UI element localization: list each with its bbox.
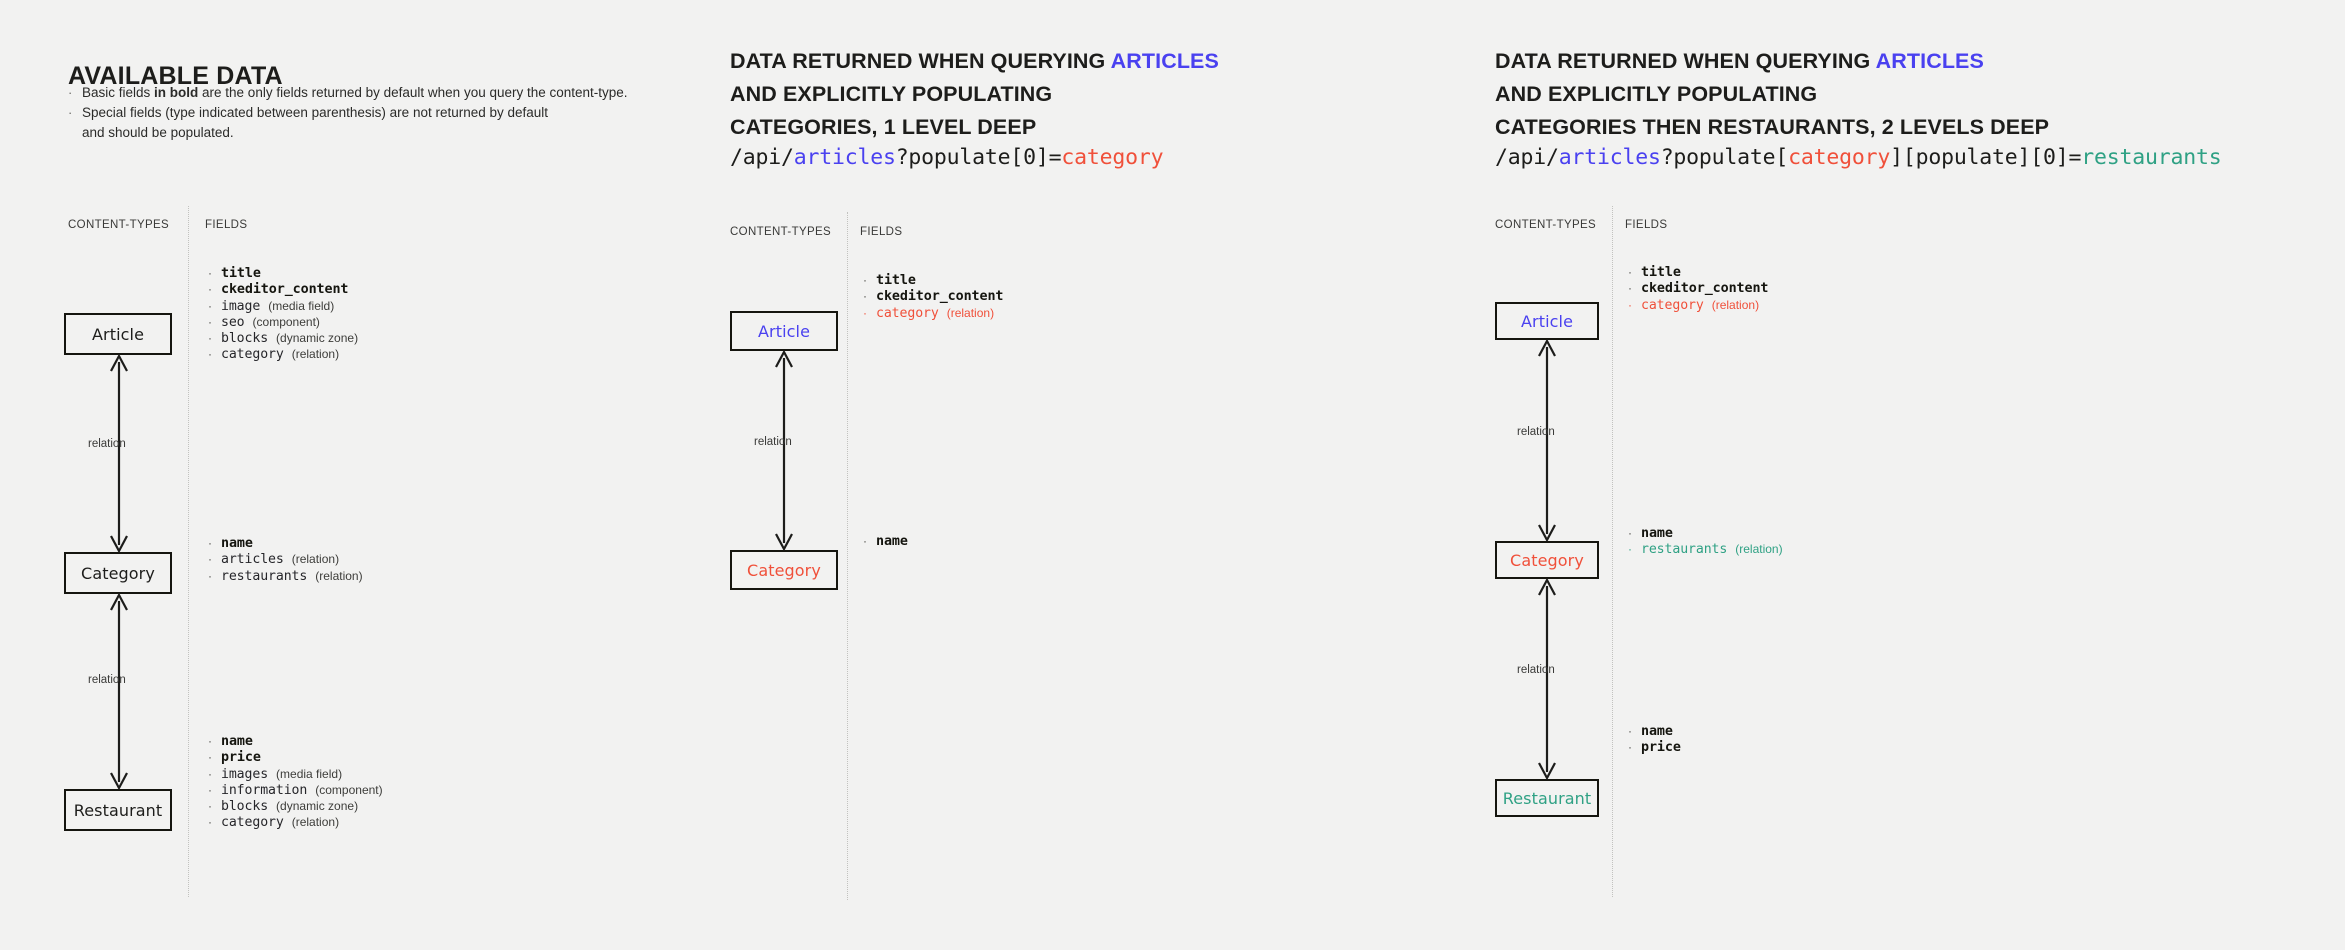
- field-name: name: [1641, 526, 1673, 541]
- column-divider: [188, 206, 189, 897]
- field-type: (relation): [292, 347, 339, 361]
- node-label: Restaurant: [1503, 789, 1592, 808]
- field-row: · name: [1628, 525, 1783, 541]
- field-name: restaurants: [221, 569, 307, 584]
- bullet-icon: ·: [208, 346, 221, 362]
- bullet-icon: ·: [208, 535, 221, 551]
- intro-post: are the only fields returned by default …: [198, 85, 627, 100]
- node-label: Article: [92, 325, 144, 344]
- field-name: title: [221, 266, 261, 281]
- fields-article: · title · ckeditor_content · category (r…: [863, 272, 1003, 321]
- field-row: · category (relation): [208, 814, 383, 830]
- node-article[interactable]: Article: [730, 311, 838, 351]
- intro-pre: Special fields (type indicated between p…: [82, 103, 548, 143]
- bullet-icon: ·: [208, 298, 221, 314]
- arrow-article-category: [108, 354, 130, 553]
- fields-restaurant: · name · price · images (media field) · …: [208, 733, 383, 831]
- field-name: ckeditor_content: [1641, 281, 1768, 296]
- field-type: (relation): [315, 569, 362, 583]
- heading-line3: CATEGORIES THEN RESTAURANTS, 2 LEVELS DE…: [1495, 111, 2049, 144]
- field-type: (dynamic zone): [276, 331, 358, 345]
- node-category[interactable]: Category: [1495, 541, 1599, 579]
- bullet-icon: ·: [208, 749, 221, 765]
- bullet-icon: ·: [208, 782, 221, 798]
- field-name: name: [1641, 724, 1673, 739]
- node-label: Restaurant: [74, 801, 163, 820]
- arrow-category-restaurant: [1536, 578, 1558, 780]
- api-url: /api/articles?populate[category][populat…: [1495, 145, 2221, 170]
- intro-pre: Basic fields: [82, 85, 154, 100]
- bullet-icon: ·: [208, 814, 221, 830]
- column-populate-one-level: DATA RETURNED WHEN QUERYING ARTICLES AND…: [730, 0, 1500, 950]
- field-name: name: [221, 536, 253, 551]
- fields-category: · name · restaurants (relation): [1628, 525, 1783, 558]
- bullet-icon: ·: [863, 272, 876, 288]
- label-fields: FIELDS: [1625, 219, 1667, 231]
- field-row: · ckeditor_content: [1628, 280, 1768, 296]
- field-row: · ckeditor_content: [208, 281, 358, 297]
- label-content-types: CONTENT-TYPES: [68, 219, 169, 231]
- heading-line3: CATEGORIES, 1 LEVEL DEEP: [730, 111, 1219, 144]
- heading-line2: AND EXPLICITLY POPULATING: [1495, 78, 2049, 111]
- field-row: · seo (component): [208, 314, 358, 330]
- field-row: · image (media field): [208, 298, 358, 314]
- field-name: ckeditor_content: [876, 289, 1003, 304]
- field-row: · restaurants (relation): [1628, 541, 1783, 557]
- bullet-icon: ·: [208, 314, 221, 330]
- section-heading: DATA RETURNED WHEN QUERYING ARTICLES AND…: [730, 45, 1219, 143]
- api-seg: articles: [1559, 145, 1661, 170]
- field-row: · title: [208, 265, 358, 281]
- api-seg: /api/: [730, 145, 794, 170]
- node-category[interactable]: Category: [64, 552, 172, 594]
- node-label: Category: [1510, 551, 1584, 570]
- field-row: · name: [208, 535, 363, 551]
- bullet-icon: ·: [1628, 723, 1641, 739]
- bullet-icon: ·: [208, 281, 221, 297]
- heading-accent: ARTICLES: [1876, 49, 1984, 73]
- field-type: (relation): [292, 552, 339, 566]
- diagram-board: AVAILABLE DATA · Basic fields in bold ar…: [0, 0, 2345, 950]
- api-seg: category: [1061, 145, 1163, 170]
- api-seg: restaurants: [2081, 145, 2221, 170]
- api-url: /api/articles?populate[0]=category: [730, 145, 1163, 170]
- field-name: information: [221, 783, 307, 798]
- field-type: (component): [315, 783, 382, 797]
- field-type: (relation): [1712, 298, 1759, 312]
- field-row: · restaurants (relation): [208, 568, 363, 584]
- field-type: (relation): [292, 815, 339, 829]
- relation-label: relation: [1517, 664, 1555, 676]
- field-name: ckeditor_content: [221, 282, 348, 297]
- label-content-types: CONTENT-TYPES: [730, 226, 831, 238]
- node-label: Category: [81, 564, 155, 583]
- relation-label: relation: [1517, 426, 1555, 438]
- field-name: name: [876, 534, 908, 549]
- fields-restaurant: · name · price: [1628, 723, 1681, 756]
- bullet-icon: ·: [863, 305, 876, 321]
- api-seg: articles: [794, 145, 896, 170]
- field-row: · name: [863, 533, 908, 549]
- node-label: Article: [758, 322, 810, 341]
- node-category[interactable]: Category: [730, 550, 838, 590]
- field-row: · articles (relation): [208, 551, 363, 567]
- label-content-types: CONTENT-TYPES: [1495, 219, 1596, 231]
- field-row: · price: [208, 749, 383, 765]
- bullet-icon: ·: [208, 733, 221, 749]
- node-article[interactable]: Article: [1495, 302, 1599, 340]
- bullet-icon: ·: [1628, 280, 1641, 296]
- bullet-icon: ·: [208, 330, 221, 346]
- field-name: category: [221, 347, 284, 362]
- fields-article: · title · ckeditor_content · category (r…: [1628, 264, 1768, 313]
- field-type: (media field): [276, 767, 342, 781]
- relation-label: relation: [754, 436, 792, 448]
- field-name: category: [876, 306, 939, 321]
- list-item: · Basic fields in bold are the only fiel…: [68, 83, 628, 103]
- api-seg: ?populate[: [1661, 145, 1788, 170]
- field-row: · title: [863, 272, 1003, 288]
- field-type: (dynamic zone): [276, 799, 358, 813]
- field-row: · price: [1628, 739, 1681, 755]
- fields-article: · title · ckeditor_content · image (medi…: [208, 265, 358, 363]
- field-row: · images (media field): [208, 766, 383, 782]
- label-fields: FIELDS: [205, 219, 247, 231]
- section-heading: DATA RETURNED WHEN QUERYING ARTICLES AND…: [1495, 45, 2049, 143]
- field-name: images: [221, 767, 268, 782]
- label-fields: FIELDS: [860, 226, 902, 238]
- field-type: (media field): [268, 299, 334, 313]
- field-name: name: [221, 734, 253, 749]
- field-type: (component): [253, 315, 320, 329]
- field-name: category: [221, 815, 284, 830]
- node-article[interactable]: Article: [64, 313, 172, 355]
- node-label: Article: [1521, 312, 1573, 331]
- bullet-icon: ·: [208, 766, 221, 782]
- field-name: seo: [221, 315, 245, 330]
- bullet-icon: ·: [1628, 525, 1641, 541]
- intro-bold: in bold: [154, 85, 198, 100]
- bullet-icon: ·: [208, 568, 221, 584]
- field-name: price: [221, 750, 261, 765]
- column-divider: [847, 212, 848, 900]
- node-restaurant[interactable]: Restaurant: [1495, 779, 1599, 817]
- field-row: · category (relation): [208, 346, 358, 362]
- fields-category: · name: [863, 533, 908, 549]
- api-seg: /api/: [1495, 145, 1559, 170]
- field-name: title: [1641, 265, 1681, 280]
- bullet-icon: ·: [1628, 541, 1641, 557]
- bullet-icon: ·: [863, 288, 876, 304]
- api-seg: ?populate[0]=: [896, 145, 1062, 170]
- field-name: articles: [221, 552, 284, 567]
- api-seg: ][populate][0]=: [1890, 145, 2081, 170]
- relation-label: relation: [88, 438, 126, 450]
- heading-accent: ARTICLES: [1111, 49, 1219, 73]
- relation-label: relation: [88, 674, 126, 686]
- api-seg: category: [1788, 145, 1890, 170]
- node-label: Category: [747, 561, 821, 580]
- field-type: (relation): [1735, 542, 1782, 556]
- field-row: · category (relation): [1628, 297, 1768, 313]
- bullet-icon: ·: [208, 798, 221, 814]
- arrow-article-category: [773, 350, 795, 551]
- bullet-icon: ·: [863, 533, 876, 549]
- bullet-icon: ·: [68, 103, 82, 123]
- field-row: · name: [1628, 723, 1681, 739]
- bullet-icon: ·: [208, 551, 221, 567]
- arrow-article-category: [1536, 339, 1558, 542]
- arrow-category-restaurant: [108, 593, 130, 790]
- field-row: · name: [208, 733, 383, 749]
- heading-line2: AND EXPLICITLY POPULATING: [730, 78, 1219, 111]
- column-divider: [1612, 206, 1613, 897]
- field-row: · title: [1628, 264, 1768, 280]
- bullet-icon: ·: [1628, 264, 1641, 280]
- list-item: · Special fields (type indicated between…: [68, 103, 628, 143]
- field-name: image: [221, 299, 260, 314]
- field-name: price: [1641, 740, 1681, 755]
- bullet-icon: ·: [68, 83, 82, 103]
- field-name: blocks: [221, 799, 268, 814]
- field-row: · blocks (dynamic zone): [208, 330, 358, 346]
- field-type: (relation): [947, 306, 994, 320]
- field-row: · information (component): [208, 782, 383, 798]
- bullet-icon: ·: [1628, 739, 1641, 755]
- field-name: blocks: [221, 331, 268, 346]
- bullet-icon: ·: [208, 265, 221, 281]
- fields-category: · name · articles (relation) · restauran…: [208, 535, 363, 584]
- heading-pre: DATA RETURNED WHEN QUERYING: [730, 49, 1111, 73]
- field-name: restaurants: [1641, 542, 1727, 557]
- column-populate-two-levels: DATA RETURNED WHEN QUERYING ARTICLES AND…: [1495, 0, 2345, 950]
- node-restaurant[interactable]: Restaurant: [64, 789, 172, 831]
- field-name: title: [876, 273, 916, 288]
- field-row: · category (relation): [863, 305, 1003, 321]
- intro-bullet-list: · Basic fields in bold are the only fiel…: [68, 83, 628, 143]
- field-row: · ckeditor_content: [863, 288, 1003, 304]
- bullet-icon: ·: [1628, 297, 1641, 313]
- field-name: category: [1641, 298, 1704, 313]
- field-row: · blocks (dynamic zone): [208, 798, 383, 814]
- heading-pre: DATA RETURNED WHEN QUERYING: [1495, 49, 1876, 73]
